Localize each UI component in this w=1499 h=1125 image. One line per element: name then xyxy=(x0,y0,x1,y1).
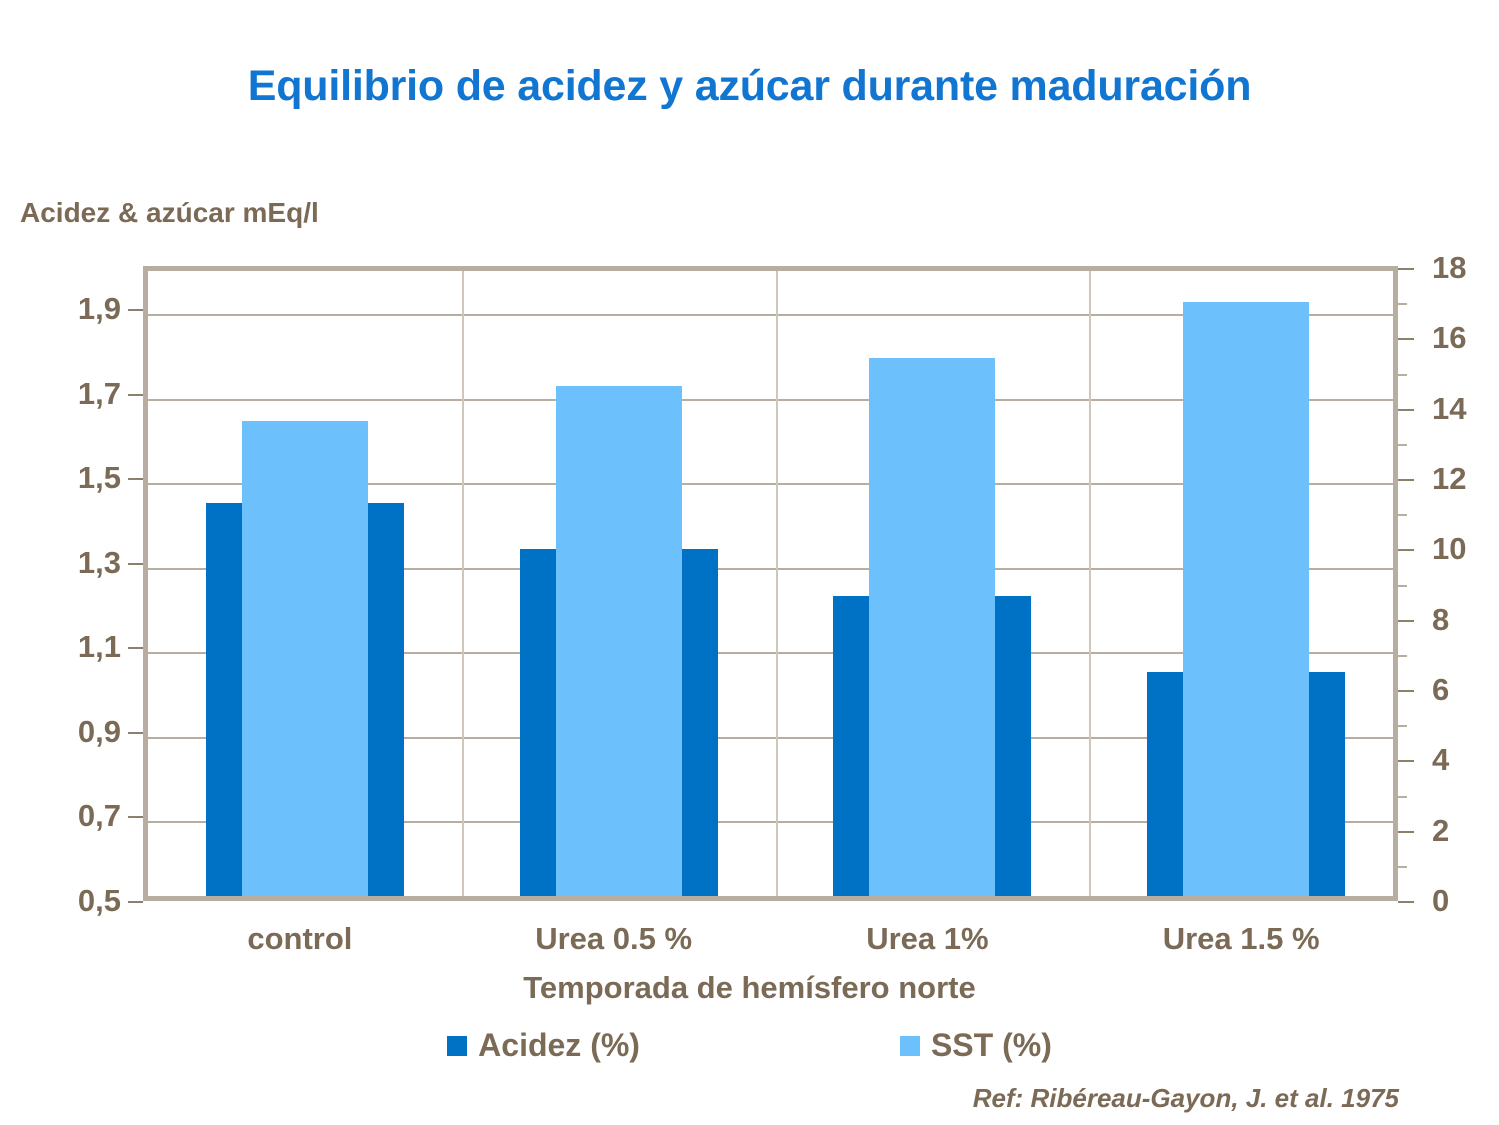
right-axis-minor-tickmark xyxy=(1398,444,1407,446)
x-axis-title: Temporada de hemísfero norte xyxy=(0,970,1499,1006)
right-axis-tickmark xyxy=(1398,760,1414,762)
legend-item-acidez[interactable]: Acidez (%) xyxy=(447,1027,640,1064)
left-axis-tickmark xyxy=(128,563,143,565)
category-separator xyxy=(1089,271,1091,896)
right-axis-tick-label: 0 xyxy=(1432,883,1449,919)
legend-swatch-acidez xyxy=(447,1036,467,1056)
right-axis-minor-tickmark xyxy=(1398,303,1407,305)
reference-note: Ref: Ribéreau-Gayon, J. et al. 1975 xyxy=(973,1083,1399,1114)
bar-sst[interactable] xyxy=(556,386,682,896)
right-axis-tick-label: 18 xyxy=(1432,250,1466,286)
right-axis-tickmark xyxy=(1398,549,1414,551)
right-axis-minor-tickmark xyxy=(1398,514,1407,516)
right-axis-tick-label: 2 xyxy=(1432,813,1449,849)
category-separator xyxy=(462,271,464,896)
x-axis-category-label: control xyxy=(143,921,457,957)
right-axis-minor-tickmark xyxy=(1398,796,1407,798)
right-axis-tickmark xyxy=(1398,901,1414,903)
x-axis-category-label: Urea 0.5 % xyxy=(457,921,771,957)
right-axis-tick-label: 16 xyxy=(1432,320,1466,356)
right-axis-tickmark xyxy=(1398,409,1414,411)
x-axis-category-label: Urea 1.5 % xyxy=(1084,921,1398,957)
plot-area xyxy=(143,266,1398,901)
right-axis-tickmark xyxy=(1398,338,1414,340)
right-axis-minor-tickmark xyxy=(1398,374,1407,376)
bar-sst[interactable] xyxy=(869,358,995,896)
right-axis-minor-tickmark xyxy=(1398,585,1407,587)
left-axis-tickmark xyxy=(128,647,143,649)
right-axis-minor-tickmark xyxy=(1398,655,1407,657)
category-separator xyxy=(776,271,778,896)
right-axis-tick-label: 14 xyxy=(1432,391,1466,427)
legend-label-sst: SST (%) xyxy=(931,1027,1052,1064)
y-axis-caption: Acidez & azúcar mEq/l xyxy=(20,197,319,229)
left-axis-tick-label: 1,5 xyxy=(78,460,121,496)
left-axis-tickmark xyxy=(128,816,143,818)
legend-label-acidez: Acidez (%) xyxy=(478,1027,640,1064)
left-axis-tick-label: 1,9 xyxy=(78,291,121,327)
page-title: Equilibrio de acidez y azúcar durante ma… xyxy=(0,62,1499,111)
right-axis-minor-tickmark xyxy=(1398,866,1407,868)
right-axis-tickmark xyxy=(1398,479,1414,481)
right-axis-tick-label: 8 xyxy=(1432,602,1449,638)
legend-swatch-sst xyxy=(900,1036,920,1056)
right-axis-tickmark xyxy=(1398,268,1414,270)
chart-legend: Acidez (%) SST (%) xyxy=(0,1027,1499,1064)
left-axis-tick-label: 1,3 xyxy=(78,545,121,581)
bar-sst[interactable] xyxy=(242,421,368,896)
left-axis-tick-label: 1,1 xyxy=(78,629,121,665)
bar-sst[interactable] xyxy=(1183,302,1309,896)
right-axis-minor-tickmark xyxy=(1398,725,1407,727)
right-axis-tick-label: 6 xyxy=(1432,672,1449,708)
plot-inner xyxy=(148,271,1393,896)
legend-spacer xyxy=(640,1045,900,1046)
left-axis-tickmark xyxy=(128,478,143,480)
right-axis-tickmark xyxy=(1398,620,1414,622)
legend-item-sst[interactable]: SST (%) xyxy=(900,1027,1052,1064)
right-axis-tickmark xyxy=(1398,690,1414,692)
right-axis-tickmark xyxy=(1398,831,1414,833)
left-axis-tick-label: 0,9 xyxy=(78,714,121,750)
left-axis-tick-label: 1,7 xyxy=(78,376,121,412)
left-axis-tickmark xyxy=(128,394,143,396)
x-axis-category-label: Urea 1% xyxy=(771,921,1085,957)
left-axis-tickmark xyxy=(128,901,143,903)
left-axis-tick-label: 0,5 xyxy=(78,883,121,919)
right-axis-tick-label: 12 xyxy=(1432,461,1466,497)
left-axis-tickmark xyxy=(128,732,143,734)
right-axis-tick-label: 10 xyxy=(1432,531,1466,567)
left-axis-tickmark xyxy=(128,309,143,311)
left-axis-tick-label: 0,7 xyxy=(78,798,121,834)
right-axis-tick-label: 4 xyxy=(1432,742,1449,778)
